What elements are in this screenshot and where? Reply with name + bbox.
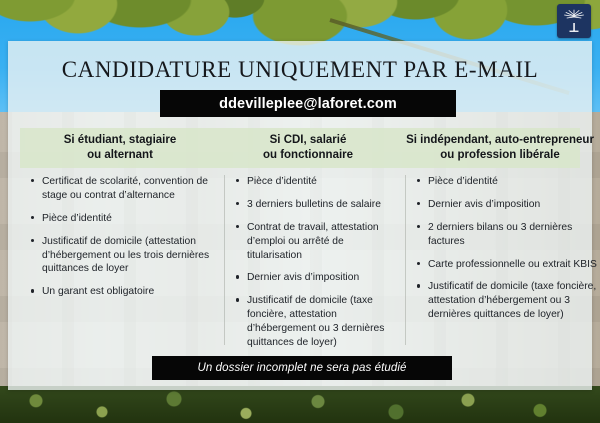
content-card: CANDIDATURE UNIQUEMENT PAR E-MAIL ddevil… [8,41,592,390]
column-header-employee-line1: Si CDI, salarié [224,133,392,148]
list-item: Pièce d’identité [247,175,397,189]
list-item: Justificatif de domicile (attestation d’… [42,235,216,277]
document-list-employee: Pièce d’identité 3 derniers bulletins de… [231,175,399,350]
document-list-student: Certificat de scolarité, convention de s… [26,175,218,299]
column-header-employee-line2: ou fonctionnaire [224,148,392,163]
list-item: Pièce d’identité [428,175,600,189]
column-header-independent: Si indépendant, auto-entrepreneur ou pro… [396,133,600,162]
columns-container: Certificat de scolarité, convention de s… [20,175,580,345]
column-headers-row: Si étudiant, stagiaire ou alternant Si C… [20,128,580,168]
column-header-employee: Si CDI, salarié ou fonctionnaire [220,133,396,162]
column-header-independent-line1: Si indépendant, auto-entrepreneur [400,133,600,148]
column-header-independent-line2: ou profession libérale [400,148,600,163]
footer-notice-text: Un dossier incomplet ne sera pas étudié [197,362,406,374]
column-header-student: Si étudiant, stagiaire ou alternant [20,133,220,162]
footer-notice: Un dossier incomplet ne sera pas étudié [152,356,452,380]
poster-root: CANDIDATURE UNIQUEMENT PAR E-MAIL ddevil… [0,0,600,423]
laforet-logo [557,4,591,38]
column-employee: Pièce d’identité 3 derniers bulletins de… [224,175,405,345]
column-student: Certificat de scolarité, convention de s… [20,175,224,345]
list-item: Justificatif de domicile (taxe foncière,… [247,294,397,350]
list-item: Carte professionnelle ou extrait KBIS [428,258,600,272]
list-item: 2 derniers bilans ou 3 dernières facture… [428,221,600,249]
list-item: 3 derniers bulletins de salaire [247,198,397,212]
list-item: Dernier avis d’imposition [428,198,600,212]
column-header-student-line2: ou alternant [24,148,216,163]
hedge-foliage [0,386,600,423]
page-title: CANDIDATURE UNIQUEMENT PAR E-MAIL [8,41,592,83]
email-address[interactable]: ddevilleplee@laforet.com [219,96,397,112]
list-item: Dernier avis d’imposition [247,271,397,285]
email-banner[interactable]: ddevilleplee@laforet.com [160,90,456,117]
tree-icon [559,6,589,36]
list-item: Contrat de travail, attestation d’emploi… [247,221,397,263]
list-item: Certificat de scolarité, convention de s… [42,175,216,203]
list-item: Un garant est obligatoire [42,285,216,299]
column-header-student-line1: Si étudiant, stagiaire [24,133,216,148]
list-item: Pièce d’identité [42,212,216,226]
list-item: Justificatif de domicile (taxe foncière,… [428,280,600,322]
document-list-independent: Pièce d’identité Dernier avis d’impositi… [412,175,600,322]
column-independent: Pièce d’identité Dernier avis d’impositi… [405,175,600,345]
